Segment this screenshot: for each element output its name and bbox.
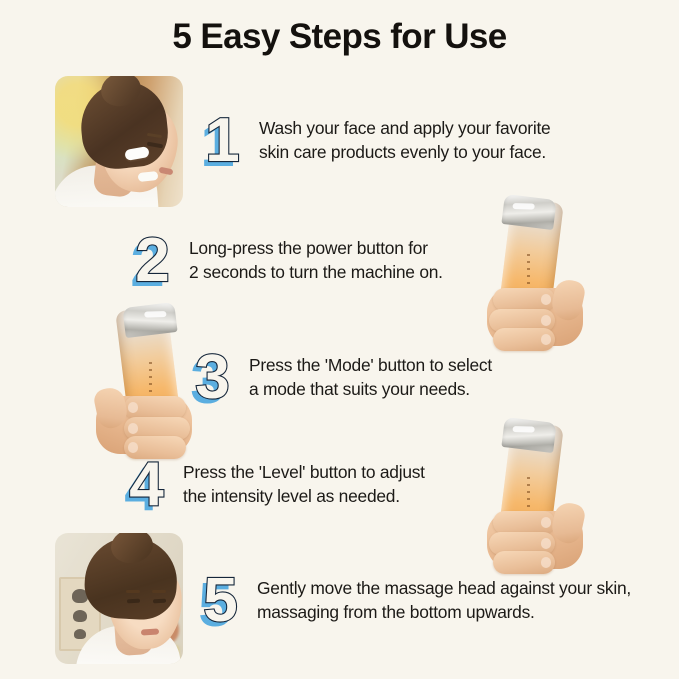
step-number-5-face: 5 [194, 568, 246, 634]
device-finger-index [493, 511, 555, 534]
step-text-3: Press the 'Mode' button to select a mode… [249, 354, 492, 401]
device-massage-head [122, 302, 177, 338]
step-number-2: 2 2 [126, 228, 178, 294]
step-number-2-face: 2 [126, 228, 178, 294]
step-number-3-face: 3 [186, 345, 238, 411]
step-text-2-line1: Long-press the power button for [189, 237, 443, 261]
step-row-3: 3 3 Press the 'Mode' button to select a … [186, 345, 492, 411]
step-text-5-line1: Gently move the massage head against you… [257, 577, 631, 601]
page-title: 5 Easy Steps for Use [0, 17, 679, 57]
step-text-1: Wash your face and apply your favorite s… [259, 117, 550, 164]
step-number-1-face: 1 [196, 108, 248, 174]
photo-woman-applying-cream [55, 76, 183, 207]
step-text-1-line2: skin care products evenly to your face. [259, 141, 550, 165]
photo-woman-smiling [55, 533, 183, 664]
device-tick-marks [527, 254, 530, 288]
photo-eyebrow-left [126, 590, 140, 593]
step-number-1: 1 1 [196, 108, 248, 174]
device-finger-index [493, 288, 555, 311]
step-row-4: 4 4 Press the 'Level' button to adjust t… [120, 452, 425, 518]
step-number-3: 3 3 [186, 345, 238, 411]
device-tick-marks [149, 362, 152, 396]
step-text-4: Press the 'Level' button to adjust the i… [183, 461, 425, 508]
device-photo-step-2 [487, 192, 637, 347]
step-row-2: 2 2 Long-press the power button for 2 se… [126, 228, 443, 294]
step-text-2: Long-press the power button for 2 second… [189, 237, 443, 284]
infographic-page: 5 Easy Steps for Use 1 1 Wash your face … [0, 0, 679, 679]
device-finger-ring [493, 328, 555, 351]
step-row-5: 5 5 Gently move the massage head against… [194, 568, 631, 634]
step-text-5-line2: massaging from the bottom upwards. [257, 601, 631, 625]
step-text-3-line2: a mode that suits your needs. [249, 378, 492, 402]
device-photo-step-3 [42, 300, 192, 455]
photo-eye-right [153, 599, 166, 603]
step-number-5: 5 5 [194, 568, 246, 634]
step-number-4: 4 4 [120, 452, 172, 518]
step-text-4-line1: Press the 'Level' button to adjust [183, 461, 425, 485]
step-text-2-line2: 2 seconds to turn the machine on. [189, 261, 443, 285]
device-tick-marks [527, 477, 530, 511]
photo-eyebrow-right [152, 590, 166, 593]
photo-eye-left [127, 599, 140, 603]
step-row-1: 1 1 Wash your face and apply your favori… [196, 108, 550, 174]
step-text-5: Gently move the massage head against you… [257, 577, 631, 624]
step-text-4-line2: the intensity level as needed. [183, 485, 425, 509]
device-massage-head [501, 194, 556, 230]
step-number-4-face: 4 [120, 452, 172, 518]
device-massage-head [501, 417, 556, 453]
step-text-1-line1: Wash your face and apply your favorite [259, 117, 550, 141]
step-text-3-line1: Press the 'Mode' button to select [249, 354, 492, 378]
device-finger-index [124, 396, 186, 419]
device-photo-step-4 [487, 415, 637, 570]
photo-lips [141, 628, 159, 635]
